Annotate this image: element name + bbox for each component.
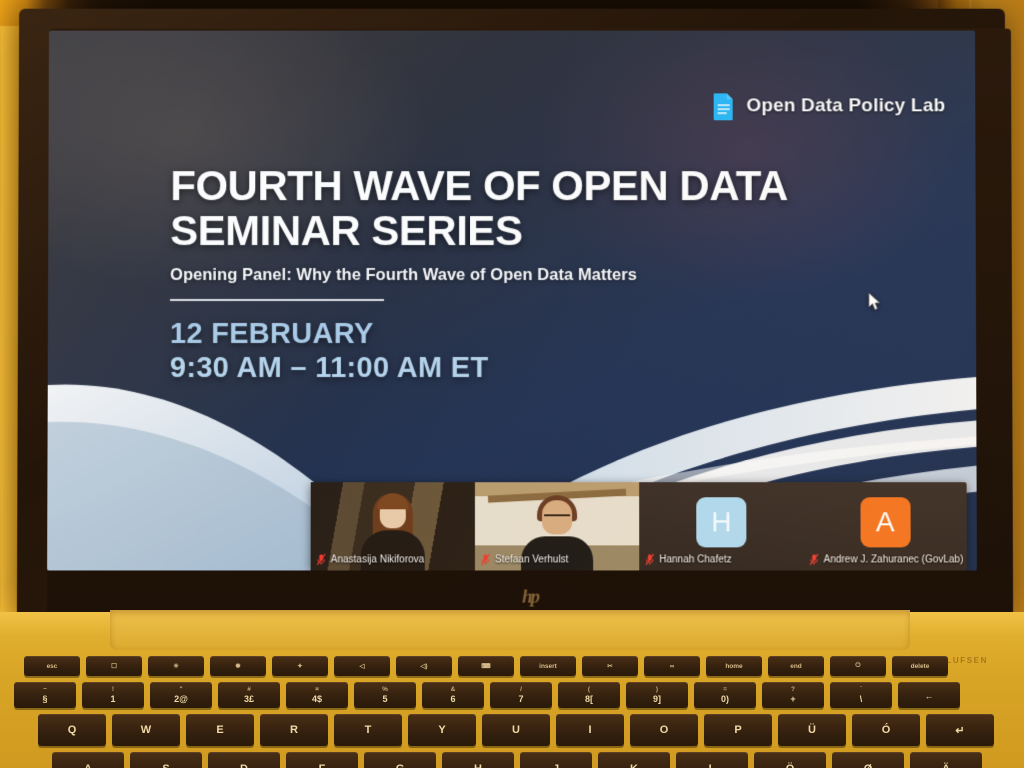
mic-muted-icon <box>645 553 654 565</box>
key-p[interactable]: P <box>704 714 772 746</box>
key-main: 2@ <box>174 694 188 704</box>
key-main: ← <box>925 691 934 701</box>
key-[interactable]: Ü <box>778 714 846 746</box>
key-5[interactable]: %5 <box>354 682 416 708</box>
laptop-keyboard-deck: BANG & OLUFSEN esc☐☀✹✦◁◁)⌨insert✂∞homeen… <box>0 612 1024 768</box>
key-d[interactable]: D <box>208 752 280 768</box>
participant-name: Hannah Chafetz <box>659 554 731 565</box>
key-sup: ) <box>656 686 658 693</box>
slide-subtitle: Opening Panel: Why the Fourth Wave of Op… <box>170 266 860 285</box>
slide-time: 9:30 AM – 11:00 AM ET <box>170 352 860 385</box>
participant-tile-anastasija-nikiforova[interactable]: Anastasija Nikiforova <box>311 482 475 570</box>
key-+[interactable]: ?+ <box>762 682 824 708</box>
participant-name: Andrew J. Zahuranec (GovLab) <box>824 554 964 565</box>
participant-tile-andrew-zahuranec[interactable]: A Andrew J. Zahuranec (GovLab) <box>803 482 967 570</box>
key-main: 6 <box>450 694 455 704</box>
key-sup: = <box>723 686 727 693</box>
participant-name: Anastasija Nikiforova <box>331 554 425 565</box>
document-icon <box>712 92 734 120</box>
keyboard-home-row[interactable]: ASDFGHJKLÖØÄ <box>52 752 982 768</box>
laptop-lid: hp <box>17 9 1007 621</box>
key-a[interactable]: A <box>52 752 124 768</box>
photo-scene: hp <box>0 0 1024 768</box>
slide-title-line-2: SEMINAR SERIES <box>170 209 860 253</box>
participant-avatar: A <box>860 498 910 548</box>
key-esc[interactable]: esc <box>24 656 80 676</box>
key-sup: # <box>247 686 251 693</box>
slide-text-block: FOURTH WAVE OF OPEN DATA SEMINAR SERIES … <box>170 164 860 385</box>
key-[interactable]: ☀ <box>148 656 204 676</box>
keyboard-function-row[interactable]: esc☐☀✹✦◁◁)⌨insert✂∞homeend⏻delete <box>24 656 948 676</box>
key-delete[interactable]: delete <box>892 656 948 676</box>
key-[interactable]: ↵ <box>926 714 994 746</box>
key-insert[interactable]: insert <box>520 656 576 676</box>
key-sup: ( <box>588 686 590 693</box>
key-g[interactable]: G <box>364 752 436 768</box>
key-7[interactable]: /7 <box>490 682 552 708</box>
key-[interactable]: Ö <box>754 752 826 768</box>
key-3£[interactable]: #3£ <box>218 682 280 708</box>
key-0)[interactable]: =0) <box>694 682 756 708</box>
participant-name-row: Andrew J. Zahuranec (GovLab) <box>810 553 964 565</box>
mic-muted-icon <box>810 553 819 565</box>
key-u[interactable]: U <box>482 714 550 746</box>
key-sup: ` <box>860 686 862 693</box>
participant-name-row: Stefaan Verhulst <box>481 553 569 565</box>
slide-divider-rule <box>170 299 384 301</box>
key-sup: ~ <box>43 686 47 693</box>
key-sup: & <box>451 686 456 693</box>
key-4$[interactable]: ¤4$ <box>286 682 348 708</box>
key-[interactable]: Ó <box>852 714 920 746</box>
participant-name-row: Anastasija Nikiforova <box>317 553 425 565</box>
key-[interactable]: ⏻ <box>830 656 886 676</box>
key-home[interactable]: home <box>706 656 762 676</box>
key-main: 8[ <box>585 694 593 704</box>
key-main: \ <box>860 694 863 704</box>
mic-muted-icon <box>481 553 490 565</box>
key-[interactable]: Ä <box>910 752 982 768</box>
key-8[[interactable]: (8[ <box>558 682 620 708</box>
key-i[interactable]: I <box>556 714 624 746</box>
key-main: + <box>790 694 795 704</box>
key-[interactable]: ✂ <box>582 656 638 676</box>
key-main: 4$ <box>312 694 322 704</box>
key-k[interactable]: K <box>598 752 670 768</box>
key-9][interactable]: )9] <box>626 682 688 708</box>
key-y[interactable]: Y <box>408 714 476 746</box>
logo-text: Open Data Policy Lab <box>746 95 945 117</box>
key-w[interactable]: W <box>112 714 180 746</box>
key-j[interactable]: J <box>520 752 592 768</box>
key-main: 9] <box>653 694 661 704</box>
key-sup: ! <box>112 686 114 693</box>
key-main: 3£ <box>244 694 254 704</box>
key-main: § <box>42 694 47 704</box>
slide-title: FOURTH WAVE OF OPEN DATA SEMINAR SERIES <box>170 164 860 253</box>
key-§[interactable]: ~§ <box>14 682 76 708</box>
open-data-policy-lab-logo: Open Data Policy Lab <box>712 92 945 120</box>
key-sup: ? <box>791 686 795 693</box>
key-sup: " <box>179 686 182 693</box>
key-f[interactable]: F <box>286 752 358 768</box>
key-main: 0) <box>721 694 729 704</box>
mic-muted-icon <box>317 553 326 565</box>
participant-tile-hannah-chafetz[interactable]: H Hannah Chafetz <box>639 482 803 570</box>
key-[interactable]: ◁ <box>334 656 390 676</box>
laptop-screen: Open Data Policy Lab FOURTH WAVE OF OPEN… <box>47 31 977 571</box>
participant-tile-stefaan-verhulst[interactable]: Stefaan Verhulst <box>475 482 639 570</box>
key-main: 1 <box>110 694 115 704</box>
slide-title-line-1: FOURTH WAVE OF OPEN DATA <box>170 164 859 208</box>
key-t[interactable]: T <box>334 714 402 746</box>
key-[interactable]: ∞ <box>644 656 700 676</box>
key-e[interactable]: E <box>186 714 254 746</box>
mouse-pointer-icon <box>868 292 881 311</box>
key-←[interactable]: ← <box>898 682 960 708</box>
key-[interactable]: ☐ <box>86 656 142 676</box>
participant-avatar: H <box>696 498 746 548</box>
key-o[interactable]: O <box>630 714 698 746</box>
hp-logo: hp <box>47 587 1013 609</box>
key-sup: / <box>520 686 522 693</box>
key-6[interactable]: &6 <box>422 682 484 708</box>
key-end[interactable]: end <box>768 656 824 676</box>
hinge-bar <box>110 610 910 650</box>
key-[interactable]: ◁) <box>396 656 452 676</box>
key-s[interactable]: S <box>130 752 202 768</box>
key-h[interactable]: H <box>442 752 514 768</box>
key-[interactable]: Ø <box>832 752 904 768</box>
key-[interactable]: ✹ <box>210 656 266 676</box>
keyboard[interactable]: esc☐☀✹✦◁◁)⌨insert✂∞homeend⏻delete~§!1"2@… <box>0 656 1024 768</box>
key-main: 7 <box>518 694 523 704</box>
participant-name: Stefaan Verhulst <box>495 554 569 565</box>
keyboard-top-row[interactable]: QWERTYUIOPÜÓ↵ <box>38 714 994 746</box>
key-sup: % <box>382 686 388 693</box>
zoom-participant-filmstrip[interactable]: Anastasija Nikiforova <box>311 482 967 570</box>
key-2@[interactable]: "2@ <box>150 682 212 708</box>
key-r[interactable]: R <box>260 714 328 746</box>
key-l[interactable]: L <box>676 752 748 768</box>
key-\[interactable]: `\ <box>830 682 892 708</box>
keyboard-number-row[interactable]: ~§!1"2@#3£¤4$%5&6/7(8[)9]=0)?+`\← <box>14 682 960 708</box>
key-sup: ¤ <box>315 686 319 693</box>
key-1[interactable]: !1 <box>82 682 144 708</box>
slide-date: 12 FEBRUARY <box>170 317 860 352</box>
key-q[interactable]: Q <box>38 714 106 746</box>
key-[interactable]: ⌨ <box>458 656 514 676</box>
key-[interactable]: ✦ <box>272 656 328 676</box>
participant-name-row: Hannah Chafetz <box>645 553 731 565</box>
key-main: 5 <box>382 694 387 704</box>
